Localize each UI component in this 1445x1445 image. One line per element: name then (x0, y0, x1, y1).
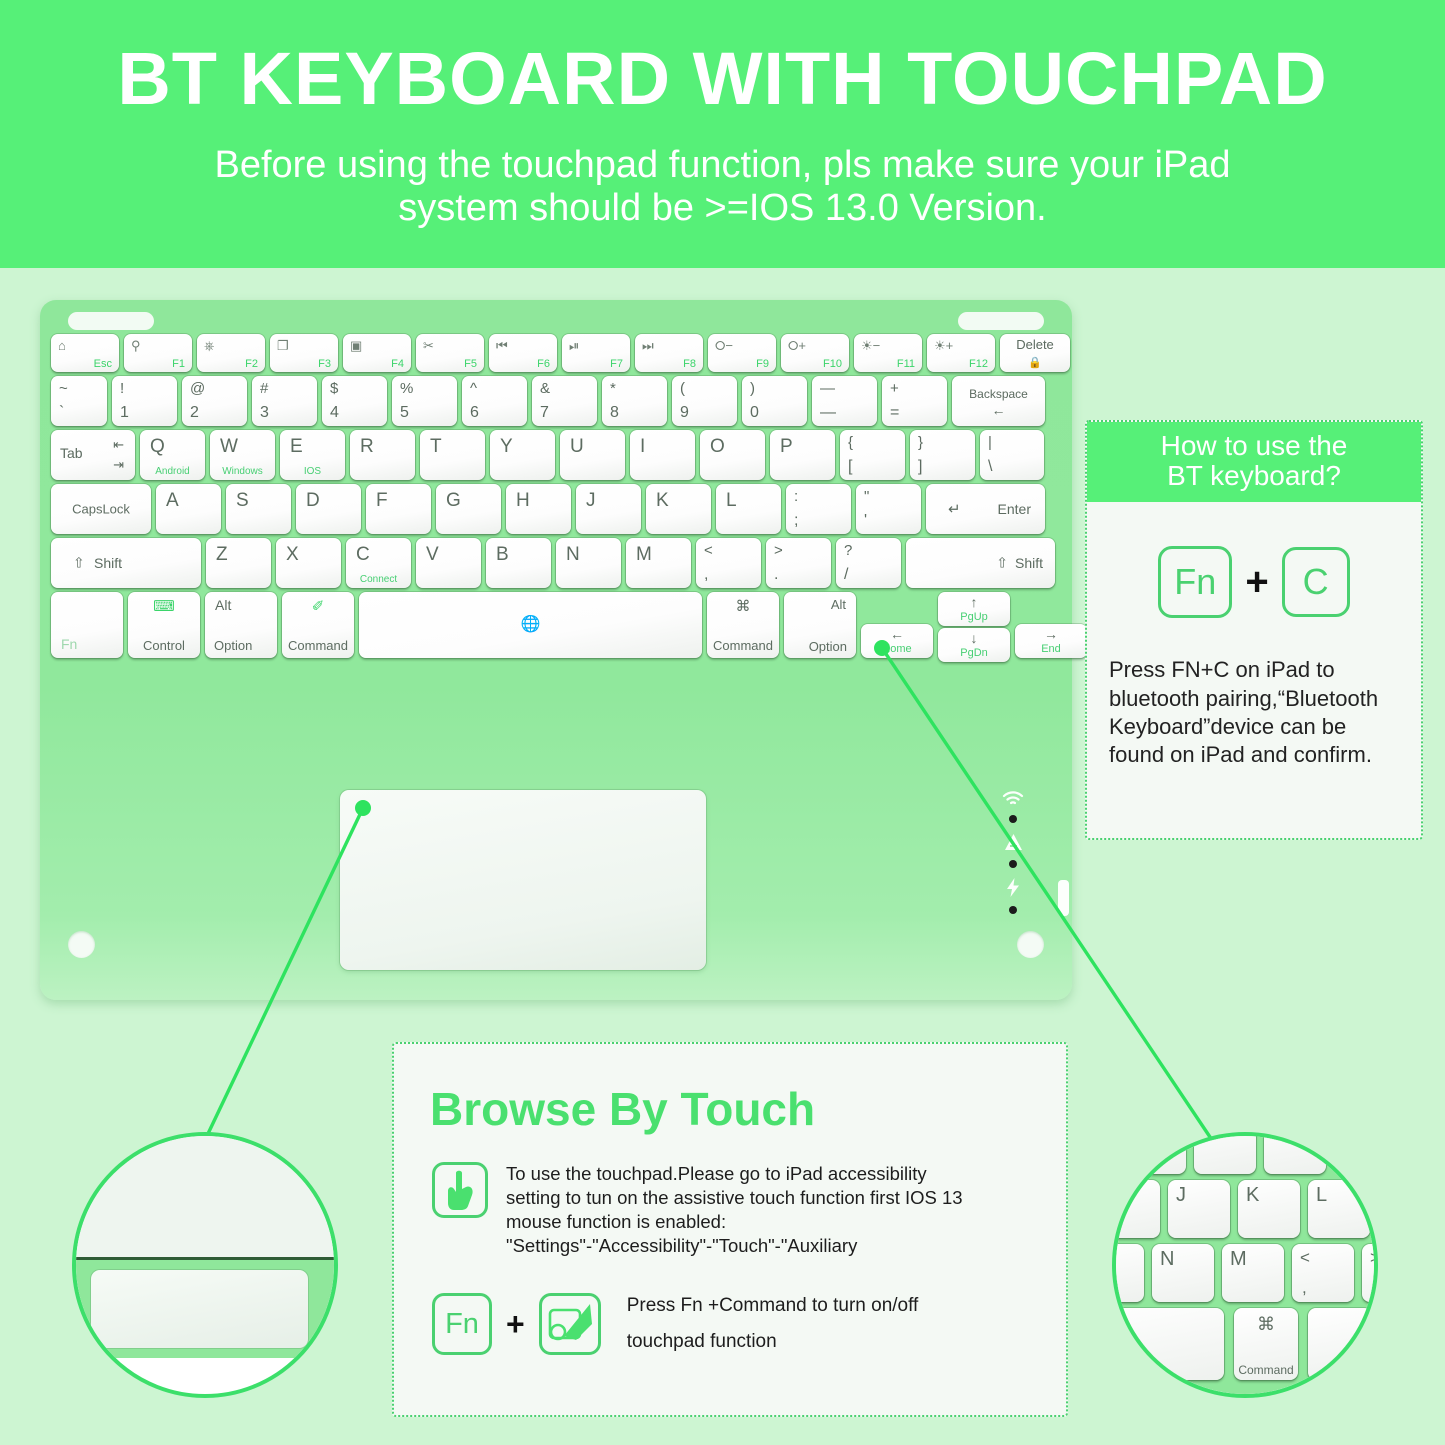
brightness-down-icon: ☀− (861, 338, 880, 354)
volume-up-icon: ⭘+ (788, 338, 806, 354)
next-track-icon: ⏭ (642, 338, 654, 354)
key-p[interactable]: P (770, 430, 835, 480)
shift-arrow-icon: ⇧ (996, 555, 1008, 572)
key-backslash[interactable]: | \ (980, 430, 1044, 480)
touchpad[interactable] (340, 790, 706, 970)
key-f10[interactable]: ⭘+ F10 (781, 334, 849, 372)
key-k[interactable]: K (646, 484, 711, 534)
header-subtitle: Before using the touchpad function, pls … (0, 116, 1445, 229)
shift-arrow-icon: ⇧ (73, 555, 85, 572)
copy-icon: ❐ (277, 338, 289, 354)
magnifier-key-j: J (1168, 1180, 1230, 1238)
touch-body-line1: To use the touchpad.Please go to iPad ac… (506, 1162, 963, 1186)
touch-row2-line2: touchpad function (627, 1324, 919, 1360)
key-command-left[interactable]: ✐ Command (282, 592, 354, 658)
magnifier-key-partial-2 (1194, 1132, 1256, 1174)
key-capslock[interactable]: CapsLock (51, 484, 151, 534)
key-z[interactable]: Z (206, 538, 271, 588)
key-w[interactable]: W Windows (210, 430, 275, 480)
key-f11[interactable]: ☀− F11 (854, 334, 922, 372)
key-esc[interactable]: ⌂ Esc (51, 334, 119, 372)
key-u[interactable]: U (560, 430, 625, 480)
touchpad-cursor-icon (539, 1293, 601, 1355)
key-j[interactable]: J (576, 484, 641, 534)
key-backspace[interactable]: Backspace ← (952, 376, 1045, 426)
key-period[interactable]: > . (766, 538, 831, 588)
scissors-icon: ✂ (423, 338, 434, 354)
bottom-key-row: Fn ⌨ Control Alt Option ✐ Command 🌐 ⌘ Co… (51, 592, 1061, 662)
key-enter[interactable]: Enter ↵ (926, 484, 1045, 534)
keyboard-body: ⌂ Esc ⚲ F1 ⎈ F2 ❐ F3 ▣ F4 ✂ F5 (40, 300, 1072, 1000)
hinge-pad-left (68, 312, 154, 330)
plus-icon: + (1245, 560, 1268, 605)
panel-touch-row-1: To use the touchpad.Please go to iPad ac… (432, 1162, 1040, 1258)
arrow-updown-stack: ↑ PgUp ↓ PgDn (938, 592, 1010, 662)
brightness-up-icon: ☀+ (934, 338, 953, 354)
capslock-icon (996, 833, 1030, 856)
signal-waves-icon (1002, 790, 1024, 806)
magnifier-key-space (1112, 1308, 1224, 1380)
arrow-right-slot: → End (1015, 592, 1087, 658)
key-h[interactable]: H (506, 484, 571, 534)
home-icon: ⌂ (58, 338, 66, 353)
fn-plus-c-combo: Fn + C (1087, 546, 1421, 618)
panel-touch-row-2: Fn + Press Fn +Command to turn on/off to… (432, 1288, 1040, 1360)
key-s[interactable]: S (226, 484, 291, 534)
panel-touch-title: Browse By Touch (430, 1082, 1066, 1136)
panel-touch-row2-text: Press Fn +Command to turn on/off touchpa… (627, 1288, 919, 1360)
key-f6[interactable]: ⏮ F6 (489, 334, 557, 372)
panel-how-to-use-bt: How to use the BT keyboard? Fn + C Press… (1085, 420, 1423, 840)
key-arrow-right[interactable]: → End (1015, 624, 1087, 658)
key-f12[interactable]: ☀+ F12 (927, 334, 995, 372)
search-icon: ⚲ (131, 338, 141, 354)
led-dot-battery (1009, 906, 1017, 914)
rubber-foot-right (1017, 931, 1044, 958)
key-f[interactable]: F (366, 484, 431, 534)
key-f5[interactable]: ✂ F5 (416, 334, 484, 372)
arrow-left-icon: ← (861, 626, 933, 642)
arrow-left-slot: ← Home (861, 592, 933, 658)
page-title: BT KEYBOARD WITH TOUCHPAD (0, 0, 1445, 116)
panel-browse-by-touch: Browse By Touch To use the touchpad.Plea… (392, 1042, 1068, 1417)
key-9[interactable]: ( 9 (672, 376, 737, 426)
tab-right-arrow-icon: ⇥ (113, 457, 124, 473)
tab-left-arrow-icon: ⇤ (113, 437, 124, 453)
key-x[interactable]: X (276, 538, 341, 588)
key-1[interactable]: ! 1 (112, 376, 177, 426)
command-symbol-icon: ⌘ (1234, 1314, 1298, 1335)
key-tilde[interactable]: ~ ` (51, 376, 107, 426)
touchpad-toggle-icon: ✐ (282, 597, 354, 615)
key-shift-right[interactable]: ⇧ Shift (906, 538, 1055, 588)
keyboard-backlight-icon: ⌨ (128, 597, 200, 615)
panel-bt-title-line2: BT keyboard? (1087, 461, 1421, 491)
key-alt-option-left[interactable]: Alt Option (205, 592, 277, 658)
magnifier-key-period: > . (1362, 1244, 1378, 1302)
key-f3[interactable]: ❐ F3 (270, 334, 338, 372)
led-dot-bluetooth (1009, 815, 1017, 823)
lightning-bolt-icon (1006, 878, 1020, 897)
key-l[interactable]: L (716, 484, 781, 534)
key-f4[interactable]: ▣ F4 (343, 334, 411, 372)
screen-icon: ⎈ (204, 338, 214, 354)
key-arrow-down[interactable]: ↓ PgDn (938, 628, 1010, 662)
key-semicolon[interactable]: : ; (786, 484, 851, 534)
arrow-up-icon: ↑ (938, 594, 1010, 610)
enter-arrow-icon: ↵ (948, 500, 961, 518)
arrow-down-icon: ↓ (938, 630, 1010, 646)
key-tab[interactable]: Tab ⇤ ⇥ (51, 430, 135, 480)
keycap-c: C (1282, 547, 1350, 617)
key-t[interactable]: T (420, 430, 485, 480)
touch-body-line4: "Settings"-"Accessibility"-"Touch"-"Auxi… (506, 1234, 963, 1258)
panel-touch-body: To use the touchpad.Please go to iPad ac… (506, 1162, 963, 1258)
command-symbol-icon: ⌘ (707, 597, 779, 615)
key-delete[interactable]: Delete 🔒 (1000, 334, 1070, 372)
bluetooth-signal-icon (996, 790, 1030, 811)
key-2[interactable]: @ 2 (182, 376, 247, 426)
number-key-row: ~ ` ! 1 @ 2 # 3 $ 4 % 5 (51, 376, 1061, 426)
key-command-right[interactable]: ⌘ Command (707, 592, 779, 658)
touch-row2-line1: Press Fn +Command to turn on/off (627, 1288, 919, 1324)
key-y[interactable]: Y (490, 430, 555, 480)
qwerty-key-row: Tab ⇤ ⇥ Q Android W Windows E IOS R T (51, 430, 1061, 480)
key-slash[interactable]: ? / (836, 538, 901, 588)
key-m[interactable]: M (626, 538, 691, 588)
header-subtitle-line2: system should be >=IOS 13.0 Version. (0, 187, 1445, 230)
side-port (1058, 880, 1069, 916)
battery-charging-icon (996, 878, 1030, 902)
lock-icon: 🔒 (1000, 356, 1070, 369)
led-dot-capslock (1009, 860, 1017, 868)
key-b[interactable]: B (486, 538, 551, 588)
key-bracket-left[interactable]: { [ (840, 430, 905, 480)
key-minus[interactable]: — — (812, 376, 877, 426)
key-e[interactable]: E IOS (280, 430, 345, 480)
key-alt-option-right[interactable]: Alt Option (784, 592, 856, 658)
key-r[interactable]: R (350, 430, 415, 480)
key-f9[interactable]: ⭘− F9 (708, 334, 776, 372)
touch-body-line3: mouse function is enabled: (506, 1210, 963, 1234)
magnifier-keys: J K L N M < , > . ⌘ Command (1112, 1132, 1378, 1398)
globe-icon: 🌐 (359, 614, 702, 634)
magnifier-key-option (1308, 1308, 1372, 1380)
led-indicator-group (996, 790, 1030, 924)
rubber-foot-left (68, 931, 95, 958)
plus-icon-small: + (506, 1306, 525, 1343)
key-6[interactable]: ^ 6 (462, 376, 527, 426)
magnifier-key-partial-3 (1264, 1132, 1326, 1174)
key-n[interactable]: N (556, 538, 621, 588)
capslock-a-icon (1004, 833, 1023, 851)
magnifier-key-comma: < , (1292, 1244, 1354, 1302)
key-equals[interactable]: + = (882, 376, 947, 426)
key-c[interactable]: C Connect (346, 538, 411, 588)
panel-bt-title-line1: How to use the (1087, 431, 1421, 461)
key-a[interactable]: A (156, 484, 221, 534)
magnifier-key-k: K (1238, 1180, 1300, 1238)
function-key-row: ⌂ Esc ⚲ F1 ⎈ F2 ❐ F3 ▣ F4 ✂ F5 (51, 334, 1061, 372)
hinge-pad-right (958, 312, 1044, 330)
play-pause-icon: ⏯ (569, 338, 579, 354)
pointing-finger-icon (432, 1162, 488, 1218)
arrow-right-icon: → (1015, 626, 1087, 642)
key-3[interactable]: # 3 (252, 376, 317, 426)
keycap-fn: Fn (1158, 546, 1232, 618)
key-bracket-right[interactable]: } ] (910, 430, 975, 480)
key-4[interactable]: $ 4 (322, 376, 387, 426)
key-space[interactable]: 🌐 (359, 592, 702, 658)
key-arrow-up[interactable]: ↑ PgUp (938, 592, 1010, 626)
volume-down-icon: ⭘− (715, 338, 733, 354)
magnifier-key-h (1112, 1180, 1160, 1238)
home-key-row: CapsLock A S D F G H J K L : ; " ' Enter… (51, 484, 1061, 534)
magnifier-touchpad (72, 1132, 338, 1398)
key-control[interactable]: ⌨ Control (128, 592, 200, 658)
key-f1[interactable]: ⚲ F1 (124, 334, 192, 372)
magnifier-key-partial-1 (1124, 1132, 1186, 1174)
magnifier-key-m: M (1222, 1244, 1284, 1302)
magnifier-key-command: ⌘ Command (1234, 1308, 1298, 1380)
key-7[interactable]: & 7 (532, 376, 597, 426)
magnifier-key-b (1112, 1244, 1144, 1302)
zxcv-key-row: ⇧ Shift Z X C Connect V B N M < , > . ? (51, 538, 1061, 588)
header-subtitle-line1: Before using the touchpad function, pls … (0, 144, 1445, 187)
magnifier-keyboard-edge (76, 1136, 334, 1260)
key-quote[interactable]: " ' (856, 484, 921, 534)
magnifier-key-n: N (1152, 1244, 1214, 1302)
previous-track-icon: ⏮ (496, 338, 508, 354)
paste-icon: ▣ (350, 338, 362, 354)
panel-bt-body-text: Press FN+C on iPad to bluetooth pairing,… (1109, 656, 1399, 769)
key-arrow-left[interactable]: ← Home (861, 624, 933, 658)
key-v[interactable]: V (416, 538, 481, 588)
key-fn[interactable]: Fn (51, 592, 123, 658)
key-5[interactable]: % 5 (392, 376, 457, 426)
header-band: BT KEYBOARD WITH TOUCHPAD Before using t… (0, 0, 1445, 268)
key-shift-left[interactable]: ⇧ Shift (51, 538, 201, 588)
backspace-arrow-icon: ← (952, 402, 1045, 418)
panel-bt-header: How to use the BT keyboard? (1087, 422, 1421, 502)
key-q[interactable]: Q Android (140, 430, 205, 480)
key-f2[interactable]: ⎈ F2 (197, 334, 265, 372)
key-comma[interactable]: < , (696, 538, 761, 588)
key-g[interactable]: G (436, 484, 501, 534)
key-grid: ⌂ Esc ⚲ F1 ⎈ F2 ❐ F3 ▣ F4 ✂ F5 (51, 334, 1061, 666)
key-i[interactable]: I (630, 430, 695, 480)
key-d[interactable]: D (296, 484, 361, 534)
key-o[interactable]: O (700, 430, 765, 480)
touch-body-line2: setting to tun on the assistive touch fu… (506, 1186, 963, 1210)
key-8[interactable]: * 8 (602, 376, 667, 426)
key-0[interactable]: ) 0 (742, 376, 807, 426)
magnifier-touchpad-surface (91, 1270, 308, 1347)
key-f8[interactable]: ⏭ F8 (635, 334, 703, 372)
key-f7[interactable]: ⏯ F7 (562, 334, 630, 372)
magnifier-key-l: L (1308, 1180, 1370, 1238)
keycap-fn-small: Fn (432, 1293, 492, 1355)
